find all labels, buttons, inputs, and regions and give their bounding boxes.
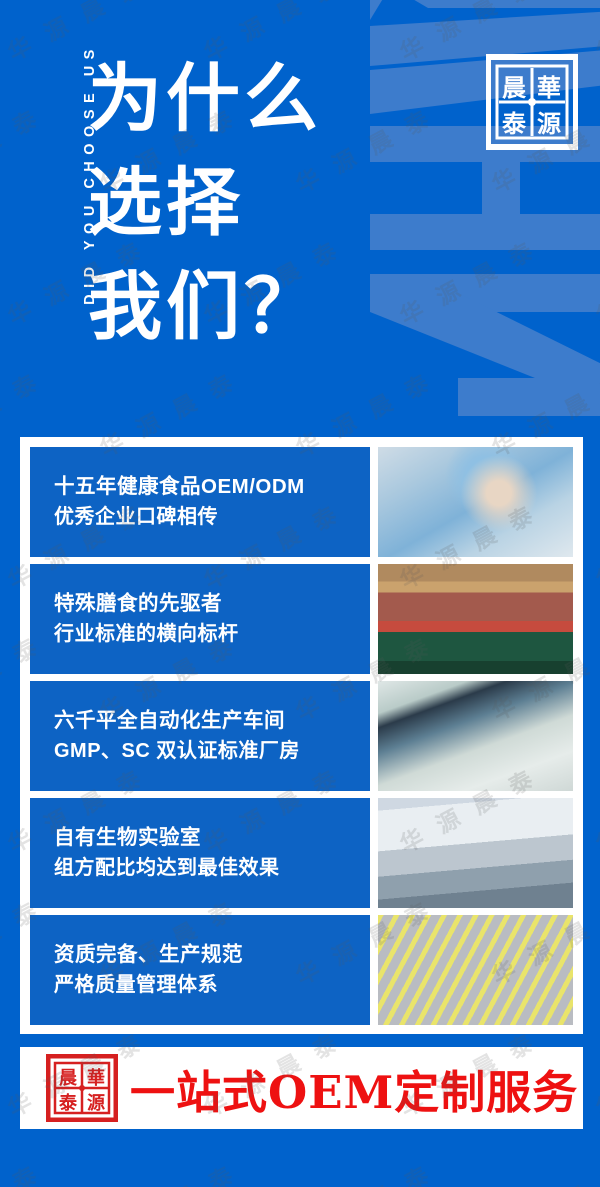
cta-banner-text: 一站式OEM定制服务	[130, 1056, 578, 1121]
watermark-text: 华 源 晨 泰	[589, 759, 600, 860]
feature-line-1: 六千平全自动化生产车间	[54, 705, 370, 736]
company-seal-white-icon: 晨 華 泰 源	[486, 54, 578, 150]
svg-text:晨: 晨	[502, 73, 527, 102]
page-title: 为什么 选择 我们？	[88, 47, 322, 359]
feature-card-text: 自有生物实验室 组方配比均达到最佳效果	[30, 798, 370, 908]
feature-card-text: 特殊膳食的先驱者 行业标准的横向标杆	[30, 564, 370, 674]
feature-line-2: 优秀企业口碑相传	[54, 502, 370, 533]
feature-line-2: 严格质量管理体系	[54, 970, 370, 1001]
feature-card[interactable]: 十五年健康食品OEM/ODM 优秀企业口碑相传	[30, 447, 573, 557]
feature-card-text: 六千平全自动化生产车间 GMP、SC 双认证标准厂房	[30, 681, 370, 791]
svg-text:源: 源	[87, 1092, 105, 1114]
feature-photo-cleanroom	[378, 681, 573, 791]
company-seal-red-icon: 晨 華 泰 源	[46, 1054, 118, 1122]
feature-line-2: 组方配比均达到最佳效果	[54, 853, 370, 884]
feature-card[interactable]: 六千平全自动化生产车间 GMP、SC 双认证标准厂房	[30, 681, 573, 791]
feature-photo-lab-technician	[378, 447, 573, 557]
title-line-2: 选择	[88, 151, 322, 255]
watermark-text: 华 源 晨 泰	[0, 1155, 46, 1187]
feature-line-2: 行业标准的横向标杆	[54, 619, 370, 650]
svg-text:泰: 泰	[502, 109, 527, 138]
feature-line-2: GMP、SC 双认证标准厂房	[54, 736, 370, 767]
feature-line-1: 特殊膳食的先驱者	[54, 588, 370, 619]
svg-text:泰: 泰	[58, 1092, 78, 1114]
svg-text:華: 華	[87, 1067, 105, 1089]
vertical-tagline: DID YOU CHOOSE US	[82, 24, 98, 324]
feature-line-1: 十五年健康食品OEM/ODM	[54, 471, 370, 502]
hero-section: 为什么 选择 我们？ DID YOU CHOOSE US 晨 華 泰 源	[0, 0, 600, 434]
feature-photo-packing-machine	[378, 915, 573, 1025]
feature-line-1: 自有生物实验室	[54, 822, 370, 853]
watermark-text: 华 源 晨 泰	[485, 1155, 600, 1187]
cta-banner[interactable]: 晨 華 泰 源 一站式OEM定制服务	[20, 1047, 583, 1129]
svg-text:華: 華	[537, 73, 561, 102]
feature-photo-conference	[378, 564, 573, 674]
feature-card-text: 十五年健康食品OEM/ODM 优秀企业口碑相传	[30, 447, 370, 557]
watermark-text: 华 源 晨 泰	[93, 1155, 242, 1187]
svg-text:源: 源	[537, 109, 561, 138]
watermark-text: 华 源 晨 泰	[589, 1023, 600, 1124]
feature-card[interactable]: 自有生物实验室 组方配比均达到最佳效果	[30, 798, 573, 908]
features-card-list: 十五年健康食品OEM/ODM 优秀企业口碑相传 特殊膳食的先驱者 行业标准的横向…	[30, 447, 573, 1025]
title-line-1: 为什么	[88, 47, 322, 151]
watermark-text: 华 源 晨 泰	[289, 1155, 438, 1187]
title-line-3: 我们？	[88, 255, 322, 359]
feature-card[interactable]: 特殊膳食的先驱者 行业标准的横向标杆	[30, 564, 573, 674]
features-panel: 十五年健康食品OEM/ODM 优秀企业口碑相传 特殊膳食的先驱者 行业标准的横向…	[20, 437, 583, 1034]
feature-photo-lab-staff	[378, 798, 573, 908]
watermark-text: 华 源 晨 泰	[589, 495, 600, 596]
feature-card[interactable]: 资质完备、生产规范 严格质量管理体系	[30, 915, 573, 1025]
feature-card-text: 资质完备、生产规范 严格质量管理体系	[30, 915, 370, 1025]
svg-text:晨: 晨	[59, 1068, 78, 1089]
feature-line-1: 资质完备、生产规范	[54, 939, 370, 970]
